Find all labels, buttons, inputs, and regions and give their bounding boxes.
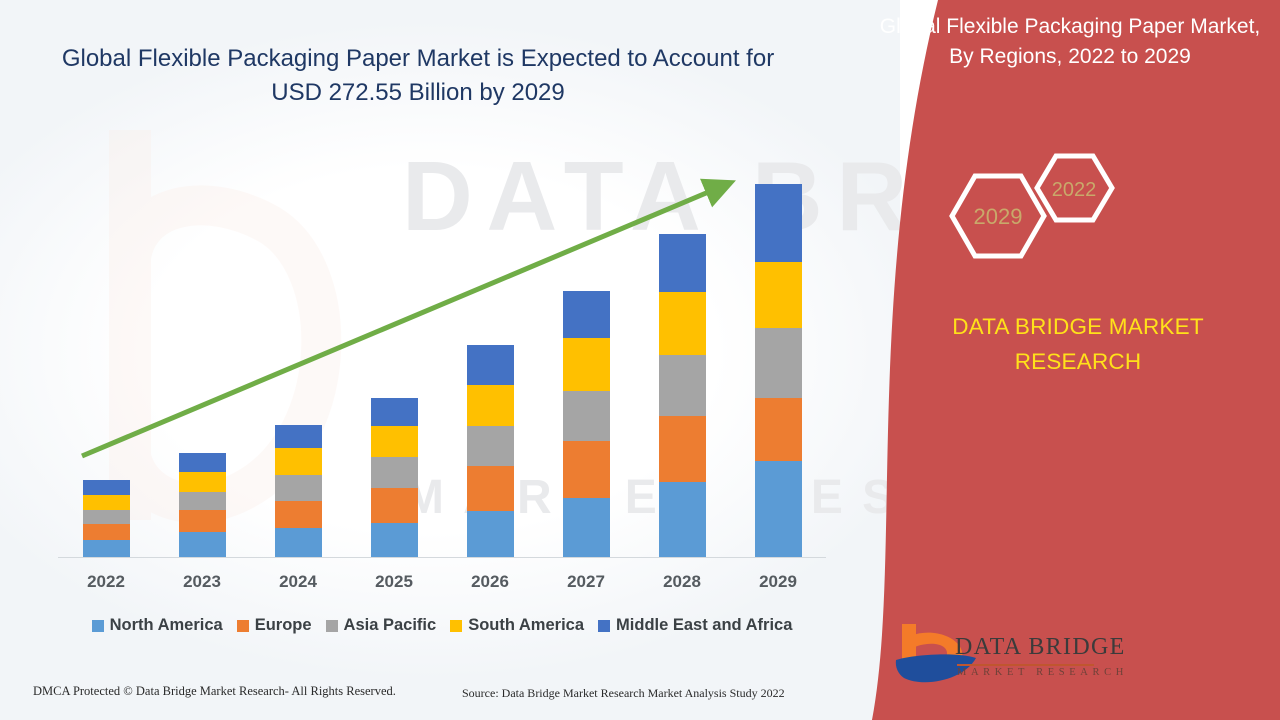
logo-wordmark: DATA BRIDGE	[955, 634, 1126, 661]
bar-segment[interactable]	[467, 345, 514, 384]
bar-segment[interactable]	[755, 184, 802, 262]
bar-segment[interactable]	[755, 262, 802, 329]
x-axis-label-2028: 2028	[634, 572, 730, 592]
stacked-bar-2026[interactable]	[467, 345, 514, 558]
bar-segment[interactable]	[371, 426, 418, 457]
hexagon-2022-label: 2022	[1052, 179, 1097, 201]
bar-segment[interactable]	[659, 355, 706, 415]
legend-label: South America	[468, 616, 584, 635]
x-axis-label-2029: 2029	[730, 572, 826, 592]
footer-dmca-notice: DMCA Protected © Data Bridge Market Rese…	[33, 684, 396, 699]
bar-segment[interactable]	[275, 425, 322, 448]
bar-segment[interactable]	[83, 524, 130, 540]
bar-segment[interactable]	[83, 540, 130, 558]
legend-item[interactable]: Middle East and Africa	[598, 616, 792, 635]
chart-legend: North AmericaEuropeAsia PacificSouth Ame…	[58, 616, 826, 635]
x-axis-line	[58, 557, 826, 558]
legend-item[interactable]: North America	[92, 616, 223, 635]
chart-plot-area	[58, 150, 826, 558]
panel-title: Global Flexible Packaging Paper Market, …	[872, 12, 1268, 73]
legend-swatch-icon	[237, 620, 249, 632]
bar-segment[interactable]	[179, 532, 226, 558]
bar-segment[interactable]	[179, 492, 226, 510]
panel-brand-text: DATA BRIDGE MARKET RESEARCH	[898, 310, 1258, 380]
bar-segment[interactable]	[659, 482, 706, 558]
bar-segment[interactable]	[563, 498, 610, 558]
legend-label: Asia Pacific	[344, 616, 437, 635]
legend-swatch-icon	[92, 620, 104, 632]
bar-segment[interactable]	[83, 495, 130, 509]
bar-slot-2024[interactable]	[250, 152, 346, 558]
bar-slot-2028[interactable]	[634, 152, 730, 558]
bar-segment[interactable]	[179, 453, 226, 472]
legend-item[interactable]: Europe	[237, 616, 312, 635]
legend-label: North America	[110, 616, 223, 635]
legend-label: Europe	[255, 616, 312, 635]
bar-segment[interactable]	[83, 510, 130, 524]
legend-swatch-icon	[450, 620, 462, 632]
panel-brand-line1: DATA BRIDGE MARKET	[952, 314, 1204, 339]
x-axis-label-2023: 2023	[154, 572, 250, 592]
stacked-bar-2025[interactable]	[371, 398, 418, 558]
bar-segment[interactable]	[275, 475, 322, 501]
bar-segment[interactable]	[659, 416, 706, 483]
bar-segment[interactable]	[659, 234, 706, 292]
bar-segment[interactable]	[563, 391, 610, 441]
x-axis-labels: 20222023202420252026202720282029	[58, 572, 826, 592]
bar-segment[interactable]	[563, 338, 610, 390]
bar-slot-2029[interactable]	[730, 152, 826, 558]
bar-segment[interactable]	[563, 291, 610, 338]
logo-subtitle: MARKET RESEARCH	[957, 667, 1128, 678]
bar-slot-2023[interactable]	[154, 152, 250, 558]
bar-segment[interactable]	[179, 510, 226, 532]
footer-source-note: Source: Data Bridge Market Research Mark…	[462, 686, 785, 701]
stacked-bar-2023[interactable]	[179, 453, 226, 558]
bar-segment[interactable]	[371, 457, 418, 488]
hexagon-badges: 2029 2022	[928, 148, 1158, 293]
stacked-bar-2029[interactable]	[755, 184, 802, 558]
bar-segment[interactable]	[371, 523, 418, 558]
bar-segment[interactable]	[755, 328, 802, 398]
panel-brand-line2: RESEARCH	[1015, 349, 1142, 374]
bar-segment[interactable]	[179, 472, 226, 491]
right-red-panel: Global Flexible Packaging Paper Market, …	[850, 0, 1280, 720]
bar-segment[interactable]	[371, 488, 418, 522]
x-axis-label-2024: 2024	[250, 572, 346, 592]
bar-group	[58, 152, 826, 558]
legend-swatch-icon	[598, 620, 610, 632]
stacked-bar-2028[interactable]	[659, 234, 706, 558]
infographic-slide: DATA BRIDGE MARKET RESEARCH Global Flexi…	[0, 0, 1280, 720]
legend-item[interactable]: South America	[450, 616, 584, 635]
legend-label: Middle East and Africa	[616, 616, 792, 635]
stacked-bar-2024[interactable]	[275, 425, 322, 558]
x-axis-label-2022: 2022	[58, 572, 154, 592]
x-axis-label-2027: 2027	[538, 572, 634, 592]
bar-segment[interactable]	[83, 480, 130, 495]
bar-segment[interactable]	[755, 398, 802, 461]
bar-slot-2025[interactable]	[346, 152, 442, 558]
chart-title: Global Flexible Packaging Paper Market i…	[48, 42, 788, 110]
legend-item[interactable]: Asia Pacific	[326, 616, 437, 635]
bar-segment[interactable]	[275, 528, 322, 558]
hexagon-2029-label: 2029	[974, 204, 1023, 229]
bar-slot-2022[interactable]	[58, 152, 154, 558]
legend-swatch-icon	[326, 620, 338, 632]
bar-segment[interactable]	[467, 385, 514, 426]
logo-underline	[957, 664, 1094, 666]
bar-segment[interactable]	[659, 292, 706, 355]
bar-segment[interactable]	[755, 461, 802, 558]
stacked-bar-2027[interactable]	[563, 291, 610, 558]
bar-segment[interactable]	[275, 501, 322, 528]
bar-segment[interactable]	[467, 511, 514, 558]
bar-segment[interactable]	[467, 466, 514, 510]
bar-slot-2027[interactable]	[538, 152, 634, 558]
bar-segment[interactable]	[371, 398, 418, 426]
bar-segment[interactable]	[275, 448, 322, 474]
bar-segment[interactable]	[467, 426, 514, 466]
bar-slot-2026[interactable]	[442, 152, 538, 558]
x-axis-label-2026: 2026	[442, 572, 538, 592]
stacked-bar-2022[interactable]	[83, 480, 130, 558]
bar-segment[interactable]	[563, 441, 610, 497]
x-axis-label-2025: 2025	[346, 572, 442, 592]
